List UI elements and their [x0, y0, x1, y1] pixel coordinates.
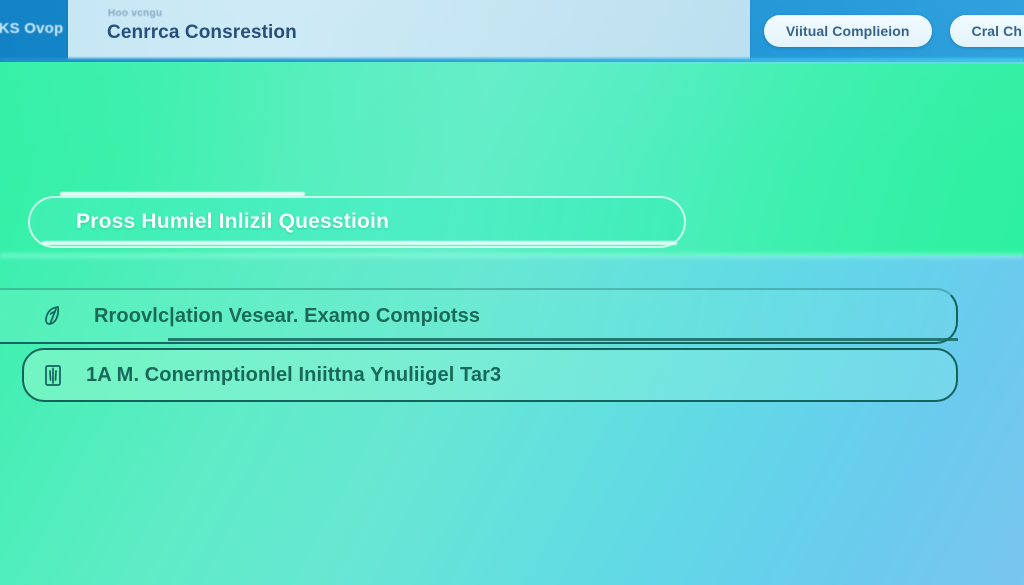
result-row-2-label: 1A M. Conermptionlel Iniittna Ynuliigel … [86, 364, 501, 387]
top-bar-actions: Viitual Complieion Cral Ch [764, 0, 1024, 62]
question-pill-bottom-accent [42, 241, 677, 245]
book-icon [42, 362, 64, 388]
result-row-2[interactable]: 1A M. Conermptionlel Iniittna Ynuliigel … [22, 348, 958, 402]
result-row-1-underline [168, 338, 958, 341]
brand-label[interactable]: KS Ovop [0, 20, 68, 37]
leaf-icon [42, 303, 64, 329]
top-bar-underline [0, 58, 1024, 62]
virtual-completion-button[interactable]: Viitual Complieion [764, 15, 932, 47]
title-panel: Hoo vcngu Cenrrca Consrestion [68, 0, 750, 60]
create-chat-button[interactable]: Cral Ch [950, 15, 1024, 47]
result-row-1-label: Rroovlc|ation Vesear. Examo Compiotss [94, 305, 480, 328]
question-input-text: Pross Humiel Inlizil Quesstioin [76, 210, 389, 234]
page-title: Cenrrca Consrestion [107, 22, 297, 44]
app-window: Pross Humiel Inlizil Quesstioin Rroovlc|… [0, 0, 1024, 585]
top-bar: KS Ovop Hoo vcngu Cenrrca Consrestion Vi… [0, 0, 1024, 62]
result-row-1[interactable]: Rroovlc|ation Vesear. Examo Compiotss [0, 288, 958, 344]
title-eyebrow: Hoo vcngu [108, 8, 162, 19]
